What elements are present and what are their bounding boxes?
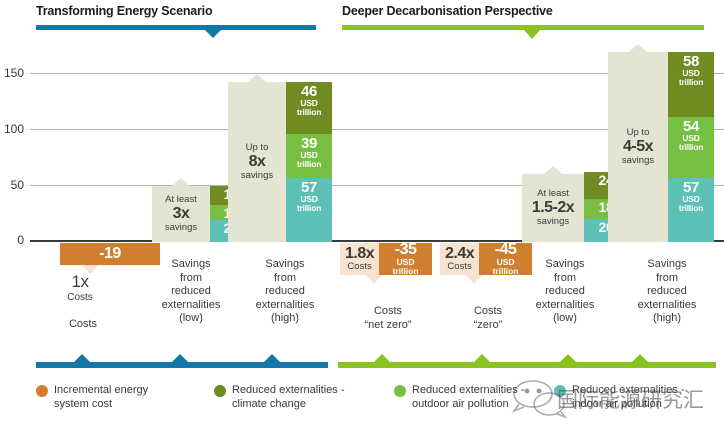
- callout-high-right: Up to 4-5x savings: [608, 52, 668, 242]
- legend-dot-icon-outdoor: [394, 385, 406, 397]
- xlabel-savings-low-left: Savingsfromreducedexternalities(low): [148, 258, 234, 326]
- axis-arrow-high-left: [264, 354, 280, 362]
- callout-high-left-line2: 8x: [249, 154, 266, 171]
- bar-savings-high-left: 46 USD trillion 39 USD trillion 57 USD t…: [286, 82, 332, 242]
- legend-item-outdoor-air-pollution: Reduced externalities - outdoor air poll…: [394, 384, 574, 411]
- bar-unit2-indoor-high-right: trillion: [668, 204, 714, 213]
- legend-label-indoor-line2: indoor air pollution: [572, 398, 662, 410]
- legend-item-incremental-energy-system-cost: Incremental energy system cost: [36, 384, 196, 411]
- plot-area-right: At least 1.5-2x savings 24 18 20 Up to 4…: [336, 46, 724, 242]
- legend-dot-icon-climate: [214, 385, 226, 397]
- cost-value-block-netzero-right: -35 USD trillion: [379, 243, 432, 275]
- bar-segment-indoor-high-left: 57 USD trillion: [286, 178, 332, 242]
- bar-segment-outdoor-high-right: 54 USD trillion: [668, 117, 714, 178]
- cost-unit2-netzero-right: trillion: [393, 267, 419, 276]
- callout-high-left-line3: savings: [241, 171, 273, 181]
- bar-unit2-outdoor-high-left: trillion: [286, 160, 332, 169]
- legend-label-indoor: Reduced externalities - indoor air pollu…: [572, 384, 685, 411]
- bar-value-indoor-high-left: 57: [286, 178, 332, 195]
- axis-arrow-low-left: [172, 354, 188, 362]
- cost-multiplier-value-zero-right: 2.4x: [445, 246, 474, 263]
- bar-value-climate-high-right: 58: [668, 52, 714, 69]
- panel-title-right: Deeper Decarbonisation Perspective: [342, 4, 553, 18]
- xlabel-savings-high-left: Savingsfromreducedexternalities(high): [242, 258, 328, 326]
- cost-value-left: -19: [99, 246, 121, 262]
- axis-arrow-costs-netzero-right: [374, 354, 390, 362]
- bar-segment-climate-high-left: 46 USD trillion: [286, 82, 332, 134]
- bar-unit2-climate-high-left: trillion: [286, 108, 332, 117]
- axis-arrow-low-right: [560, 354, 576, 362]
- legend-label-outdoor: Reduced externalities - outdoor air poll…: [412, 384, 525, 411]
- callout-notch-high-left: [248, 74, 266, 82]
- cost-multiplier-netzero-right: 1.8x Costs: [340, 246, 379, 273]
- callout-low-left: At least 3x savings: [152, 186, 210, 242]
- callout-low-left-line2: 3x: [173, 206, 190, 223]
- legend-item-indoor-air-pollution: Reduced externalities - indoor air pollu…: [554, 384, 724, 411]
- legend-dot-icon-indoor: [554, 385, 566, 397]
- panel-accent-caret-left: [205, 30, 221, 38]
- ytick-100: 100: [4, 122, 24, 136]
- cost-multiplier-left: 1x Costs: [50, 272, 110, 305]
- bar-savings-high-right: 58 USD trillion 54 USD trillion 57 USD t…: [668, 52, 714, 242]
- callout-notch-low-left: [172, 178, 190, 186]
- axis-bar-right: [338, 362, 716, 368]
- panel-deeper-decarbonisation-perspective: Deeper Decarbonisation Perspective At le…: [336, 0, 724, 380]
- cost-multiplier-sub-netzero-right: Costs: [345, 262, 374, 272]
- callout-high-left: Up to 8x savings: [228, 82, 286, 242]
- cost-multiplier-sub-left: Costs: [50, 291, 110, 305]
- xlabel-costs-left: Costs: [48, 318, 118, 332]
- legend-label-cost-line2: system cost: [54, 398, 112, 410]
- bar-segment-outdoor-high-left: 39 USD trillion: [286, 134, 332, 178]
- legend-label-climate: Reduced externalities - climate change: [232, 384, 345, 411]
- callout-high-right-line2: 4-5x: [623, 139, 653, 156]
- axis-arrow-high-right: [632, 354, 648, 362]
- panel-title-left: Transforming Energy Scenario: [36, 4, 212, 18]
- callout-low-right-line2: 1.5-2x: [532, 200, 574, 217]
- legend-label-cost: Incremental energy system cost: [54, 384, 148, 411]
- callout-low-right-line3: savings: [537, 217, 569, 227]
- panel-accent-rule-left: [36, 25, 316, 30]
- cost-value-netzero-right: -35: [395, 242, 417, 258]
- callout-notch-high-right: [629, 44, 647, 52]
- callout-high-left-line1: Up to: [246, 143, 269, 153]
- axis-arrow-costs-zero-right: [474, 354, 490, 362]
- cost-multiplier-value-left: 1x: [50, 272, 110, 291]
- legend: Incremental energy system cost Reduced e…: [36, 384, 724, 428]
- axis-bar-left: [36, 362, 328, 368]
- cost-value-block-left: -19: [60, 243, 160, 265]
- callout-high-right-line3: savings: [622, 156, 654, 166]
- callout-notch-low-right: [544, 166, 562, 174]
- ytick-50: 50: [11, 178, 24, 192]
- cost-unit2-zero-right: trillion: [493, 267, 519, 276]
- callout-low-left-line3: savings: [165, 223, 197, 233]
- bar-value-indoor-high-right: 57: [668, 178, 714, 195]
- panel-transforming-energy-scenario: Transforming Energy Scenario 150 100 50 …: [30, 0, 336, 380]
- cost-box-left: -19: [60, 243, 160, 265]
- legend-dot-icon-cost: [36, 385, 48, 397]
- bar-segment-indoor-high-right: 57 USD trillion: [668, 178, 714, 242]
- panel-accent-caret-right: [524, 30, 540, 39]
- ytick-150: 150: [4, 66, 24, 80]
- legend-item-climate-change: Reduced externalities - climate change: [214, 384, 384, 411]
- panel-accent-rule-right: [342, 25, 704, 30]
- axis-arrow-costs-left: [74, 354, 90, 362]
- bar-value-outdoor-high-right: 54: [668, 117, 714, 134]
- gridline-150-left: 150: [30, 73, 336, 74]
- plot-area-left: 150 100 50 0 At least 3x savings 17 13: [30, 46, 336, 242]
- xlabel-savings-high-right: Savingsfromreducedexternalities(high): [624, 258, 710, 326]
- legend-label-indoor-line1: Reduced externalities -: [572, 384, 685, 396]
- cost-multiplier-zero-right: 2.4x Costs: [440, 246, 479, 273]
- bar-unit2-indoor-high-left: trillion: [286, 204, 332, 213]
- xlabel-savings-low-right: Savingsfromreducedexternalities(low): [522, 258, 608, 326]
- legend-label-climate-line2: climate change: [232, 398, 306, 410]
- xlabel-costs-netzero-right: Costs“net zero”: [346, 305, 430, 332]
- bar-segment-climate-high-right: 58 USD trillion: [668, 52, 714, 117]
- cost-multiplier-value-netzero-right: 1.8x: [345, 246, 374, 263]
- bar-unit2-outdoor-high-right: trillion: [668, 143, 714, 152]
- cost-box-notch-netzero-right: [366, 275, 382, 284]
- legend-label-cost-line1: Incremental energy: [54, 384, 148, 396]
- callout-low-right: At least 1.5-2x savings: [522, 174, 584, 242]
- bar-value-climate-high-left: 46: [286, 82, 332, 99]
- callout-high-right-line1: Up to: [627, 128, 650, 138]
- cost-box-netzero-right: 1.8x Costs -35 USD trillion: [340, 243, 432, 275]
- cost-value-zero-right: -45: [495, 242, 517, 258]
- ytick-0: 0: [17, 233, 24, 247]
- legend-label-outdoor-line2: outdoor air pollution: [412, 398, 509, 410]
- xlabel-costs-zero-right: Costs“zero”: [446, 305, 530, 332]
- cost-multiplier-sub-zero-right: Costs: [445, 262, 474, 272]
- callout-low-right-line1: At least: [537, 189, 569, 199]
- legend-label-outdoor-line1: Reduced externalities -: [412, 384, 525, 396]
- bar-unit2-climate-high-right: trillion: [668, 78, 714, 87]
- callout-low-left-line1: At least: [165, 195, 197, 205]
- cost-box-notch-zero-right: [466, 275, 482, 284]
- bar-value-outdoor-high-left: 39: [286, 134, 332, 151]
- cost-box-zero-right: 2.4x Costs -45 USD trillion: [440, 243, 532, 275]
- legend-label-climate-line1: Reduced externalities -: [232, 384, 345, 396]
